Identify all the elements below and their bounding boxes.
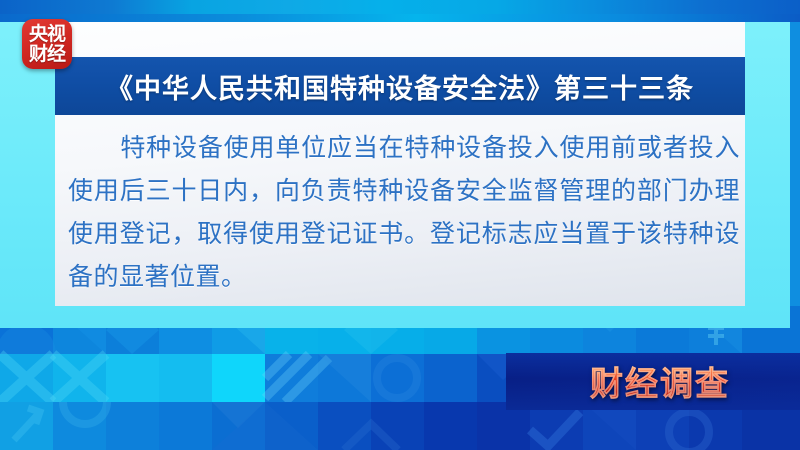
card-title-bar: 《中华人民共和国特种设备安全法》第三十三条	[55, 57, 745, 115]
card-title: 《中华人民共和国特种设备安全法》第三十三条	[106, 67, 694, 106]
logo-line-2: 财经	[29, 44, 65, 64]
top-gradient-strip	[0, 0, 800, 14]
broadcast-graphic: 《中华人民共和国特种设备安全法》第三十三条 特种设备使用单位应当在特种设备投入使…	[0, 0, 800, 450]
card-body-text: 特种设备使用单位应当在特种设备投入使用前或者投入使用后三十日内，向负责特种设备安…	[68, 126, 740, 301]
top-gradient-strip-secondary	[0, 14, 800, 22]
card-body-content: 特种设备使用单位应当在特种设备投入使用前或者投入使用后三十日内，向负责特种设备安…	[68, 133, 740, 291]
program-badge-text: 财经调查	[545, 356, 775, 406]
cctv-finance-logo: 央视 财经	[22, 19, 72, 69]
logo-line-1: 央视	[29, 24, 65, 44]
